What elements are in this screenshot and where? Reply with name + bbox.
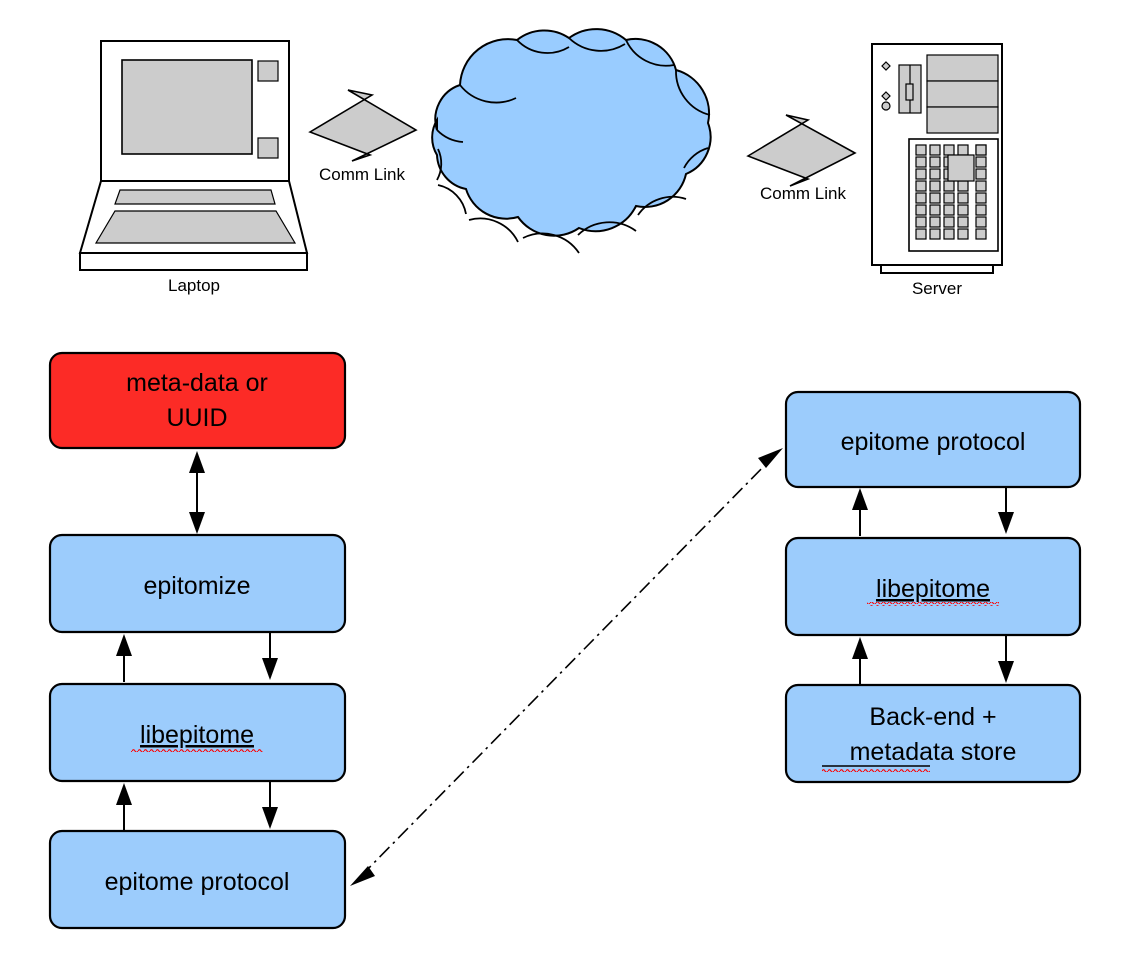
node-backend-metadata-store-line2: metadata store bbox=[850, 738, 1017, 766]
comm-link-right-label: Comm Link bbox=[760, 184, 846, 203]
node-epitome-protocol-server[interactable]: epitome protocol bbox=[786, 392, 1080, 487]
node-libepitome-client[interactable]: libepitome bbox=[50, 684, 345, 781]
node-epitome-protocol-client[interactable]: epitome protocol bbox=[50, 831, 345, 928]
spellcheck-squiggle bbox=[822, 768, 930, 772]
node-epitome-protocol-server-label: epitome protocol bbox=[841, 428, 1026, 456]
laptop-icon bbox=[80, 41, 307, 270]
comm-link-left-label: Comm Link bbox=[319, 165, 405, 184]
lightning-bolt-icon bbox=[310, 90, 416, 161]
connector-libepitome-to-protocol bbox=[116, 782, 278, 830]
node-meta-data-uuid[interactable]: meta-data or UUID bbox=[50, 353, 345, 448]
node-meta-data-uuid-line1: meta-data or bbox=[126, 369, 268, 397]
connector-protocol-to-libepitome-server bbox=[852, 488, 1014, 536]
connector-client-to-server-protocol bbox=[350, 448, 783, 886]
cloud-icon bbox=[432, 29, 710, 253]
connector-epitomize-to-libepitome bbox=[116, 633, 278, 682]
connector-meta-to-epitomize bbox=[189, 451, 205, 534]
node-libepitome-client-label: libepitome bbox=[140, 721, 254, 749]
node-backend-metadata-store[interactable]: Back-end + metadata store bbox=[786, 685, 1080, 782]
node-epitome-protocol-client-label: epitome protocol bbox=[105, 868, 290, 896]
connector-libepitome-server-to-backend bbox=[852, 636, 1014, 684]
node-epitomize[interactable]: epitomize bbox=[50, 535, 345, 632]
node-meta-data-uuid-rect[interactable] bbox=[50, 353, 345, 448]
node-epitomize-label: epitomize bbox=[144, 572, 251, 600]
spellcheck-squiggle bbox=[131, 748, 263, 752]
server-label: Server bbox=[912, 279, 962, 298]
spellcheck-squiggle bbox=[867, 602, 999, 606]
diagram-canvas: Laptop Comm Link Comm Link bbox=[0, 0, 1124, 976]
laptop-label: Laptop bbox=[168, 276, 220, 295]
server-tower-icon bbox=[872, 44, 1002, 273]
node-libepitome-server[interactable]: libepitome bbox=[786, 538, 1080, 635]
lightning-bolt-icon bbox=[748, 115, 855, 186]
node-libepitome-server-label: libepitome bbox=[876, 575, 990, 603]
node-backend-metadata-store-line1: Back-end + bbox=[869, 703, 996, 731]
node-backend-metadata-store-rect[interactable] bbox=[786, 685, 1080, 782]
node-meta-data-uuid-line2: UUID bbox=[166, 404, 227, 432]
